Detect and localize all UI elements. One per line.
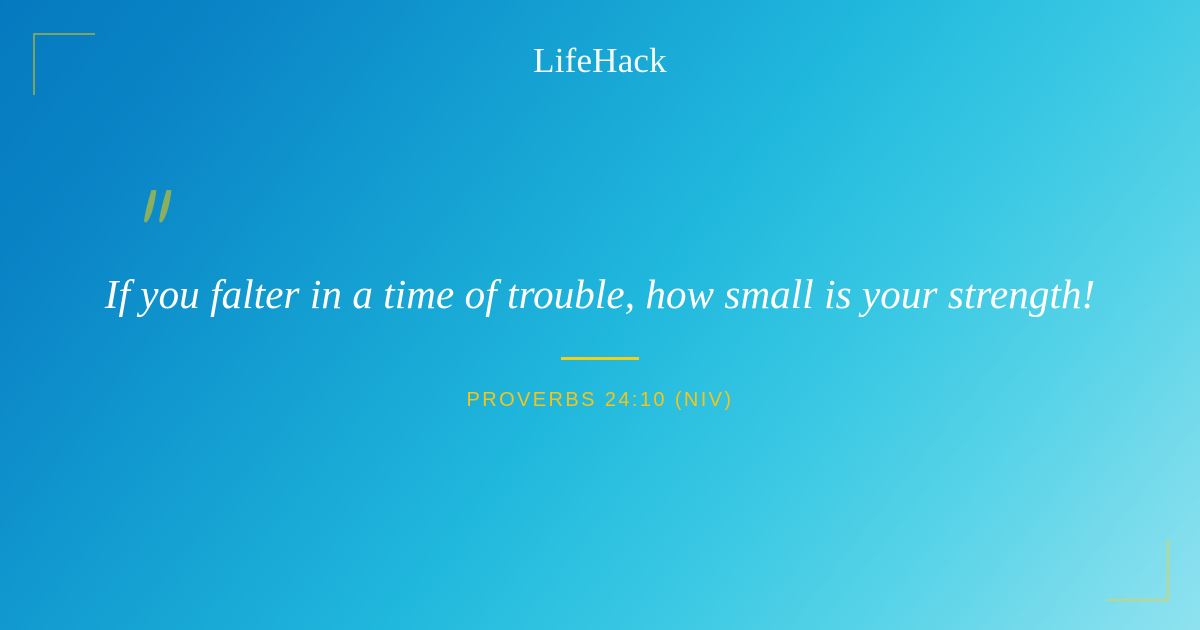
quote-card: LifeHack If you falter in a time of trou…	[0, 0, 1200, 630]
brand-logo: LifeHack	[0, 41, 1200, 81]
double-quote-icon	[131, 186, 191, 246]
divider	[561, 357, 639, 360]
quote-attribution: PROVERBS 24:10 (NIV)	[0, 387, 1200, 413]
quote-text: If you falter in a time of trouble, how …	[60, 266, 1140, 322]
corner-bracket-icon-bottom-right	[1107, 539, 1169, 601]
